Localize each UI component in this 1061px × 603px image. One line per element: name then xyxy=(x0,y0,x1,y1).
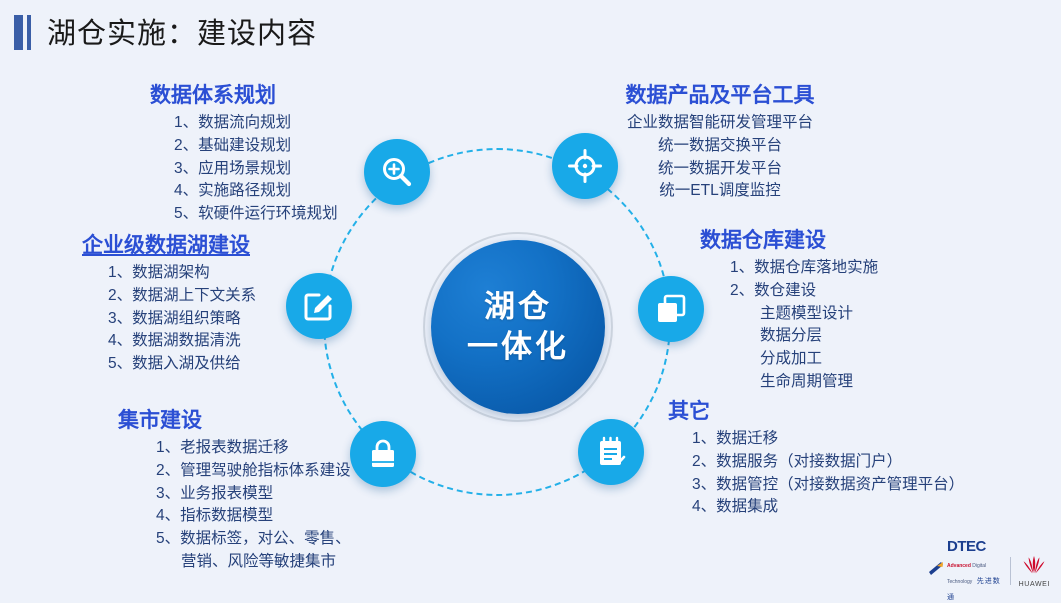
title-accent-bars xyxy=(14,15,36,50)
block-other: 其它 1、数据迁移 2、数据服务（对接数据门户） 3、数据管控（对接数据资产管理… xyxy=(668,400,964,519)
node-data-system[interactable] xyxy=(364,139,430,205)
list-item: 5、数据标签，对公、零售、 xyxy=(156,528,351,551)
block-data-product: 数据产品及平台工具 企业数据智能研发管理平台 统一数据交换平台 统一数据开发平台… xyxy=(600,84,840,203)
dtec-logo: DTEC Advanced Digital Technology 先进数通 xyxy=(928,539,1002,603)
block-data-warehouse: 数据仓库建设 1、数据仓库落地实施 2、数仓建设 主题模型设计 数据分层 分成加… xyxy=(700,229,878,394)
node-data-warehouse[interactable] xyxy=(638,276,704,342)
center-label-line2: 一体化 xyxy=(467,327,569,367)
list-item: 生命周期管理 xyxy=(730,371,878,394)
block-list-data-lake: 1、数据湖架构 2、数据湖上下文关系 3、数据湖组织策略 4、数据湖数据清洗 5… xyxy=(82,262,256,376)
footer-logos: DTEC Advanced Digital Technology 先进数通 HU… xyxy=(928,550,1050,592)
block-title-mart: 集市建设 xyxy=(118,409,351,433)
accent-bar-thick xyxy=(14,15,23,50)
block-mart: 集市建设 1、老报表数据迁移 2、管理驾驶舱指标体系建设 3、业务报表模型 4、… xyxy=(118,409,351,574)
crosshair-target-icon xyxy=(568,149,602,183)
huawei-flower-icon xyxy=(1021,555,1047,580)
copy-layers-icon xyxy=(654,292,688,326)
list-item: 2、数仓建设 xyxy=(730,280,878,303)
list-item: 4、指标数据模型 xyxy=(156,505,351,528)
block-title-data-warehouse: 数据仓库建设 xyxy=(700,229,878,253)
center-label-line1: 湖仓 xyxy=(484,287,552,327)
list-item: 3、数据湖组织策略 xyxy=(108,308,256,331)
list-item: 4、数据湖数据清洗 xyxy=(108,330,256,353)
block-data-system: 数据体系规划 1、数据流向规划 2、基础建设规划 3、应用场景规划 4、实施路径… xyxy=(150,84,338,226)
page-title: 湖仓实施：建设内容 xyxy=(47,10,317,52)
list-item: 3、业务报表模型 xyxy=(156,483,351,506)
list-item: 3、数据管控（对接数据资产管理平台） xyxy=(692,474,964,497)
dtec-wordmark: DTEC xyxy=(947,538,986,555)
list-item: 2、基础建设规划 xyxy=(174,135,338,158)
block-title-data-system: 数据体系规划 xyxy=(150,84,338,108)
block-list-data-system: 1、数据流向规划 2、基础建设规划 3、应用场景规划 4、实施路径规划 5、软硬… xyxy=(150,112,338,226)
list-item: 数据分层 xyxy=(730,325,878,348)
list-item: 2、数据服务（对接数据门户） xyxy=(692,451,964,474)
list-item: 1、数据湖架构 xyxy=(108,262,256,285)
center-outer-ring xyxy=(423,232,613,422)
node-data-lake[interactable] xyxy=(286,273,352,339)
list-item: 5、软硬件运行环境规划 xyxy=(174,203,338,226)
block-list-mart: 1、老报表数据迁移 2、管理驾驶舱指标体系建设 3、业务报表模型 4、指标数据模… xyxy=(118,437,351,574)
block-list-other: 1、数据迁移 2、数据服务（对接数据门户） 3、数据管控（对接数据资产管理平台）… xyxy=(668,428,964,519)
list-item: 2、管理驾驶舱指标体系建设 xyxy=(156,460,351,483)
list-item: 企业数据智能研发管理平台 xyxy=(600,112,840,135)
notepad-check-icon xyxy=(595,436,627,468)
huawei-logo: HUAWEI xyxy=(1019,555,1050,588)
magnifier-plus-icon xyxy=(380,155,414,189)
block-title-other: 其它 xyxy=(668,400,964,424)
list-item: 2、数据湖上下文关系 xyxy=(108,285,256,308)
list-item: 4、实施路径规划 xyxy=(174,180,338,203)
list-item: 主题模型设计 xyxy=(730,303,878,326)
shopping-bag-icon xyxy=(367,438,399,470)
list-item: 1、老报表数据迁移 xyxy=(156,437,351,460)
edit-pencil-icon xyxy=(302,289,336,323)
node-other[interactable] xyxy=(578,419,644,485)
block-data-lake: 企业级数据湖建设 1、数据湖架构 2、数据湖上下文关系 3、数据湖组织策略 4、… xyxy=(82,234,256,376)
accent-bar-thin xyxy=(27,15,31,50)
slide-header: 湖仓实施：建设内容 xyxy=(0,0,1061,62)
list-item: 1、数据迁移 xyxy=(692,428,964,451)
block-title-data-lake: 企业级数据湖建设 xyxy=(82,234,256,258)
list-item: 统一数据开发平台 xyxy=(600,158,840,181)
list-item: 分成加工 xyxy=(730,348,878,371)
dtec-arrow-icon xyxy=(928,561,945,581)
list-item: 1、数据仓库落地实施 xyxy=(730,257,878,280)
list-item: 5、数据入湖及供给 xyxy=(108,353,256,376)
list-item: 1、数据流向规划 xyxy=(174,112,338,135)
list-item: 4、数据集成 xyxy=(692,496,964,519)
huawei-wordmark: HUAWEI xyxy=(1019,581,1050,588)
list-item: 统一数据交换平台 xyxy=(600,135,840,158)
node-mart[interactable] xyxy=(350,421,416,487)
block-list-data-warehouse: 1、数据仓库落地实施 2、数仓建设 主题模型设计 数据分层 分成加工 生命周期管… xyxy=(700,257,878,394)
list-item: 统一ETL调度监控 xyxy=(600,180,840,203)
block-title-data-product: 数据产品及平台工具 xyxy=(600,84,840,108)
center-hub-circle: 湖仓 一体化 xyxy=(431,240,605,414)
list-item: 营销、风险等敏捷集市 xyxy=(156,551,351,574)
list-item: 3、应用场景规划 xyxy=(174,158,338,181)
block-list-data-product: 企业数据智能研发管理平台 统一数据交换平台 统一数据开发平台 统一ETL调度监控 xyxy=(600,112,840,203)
